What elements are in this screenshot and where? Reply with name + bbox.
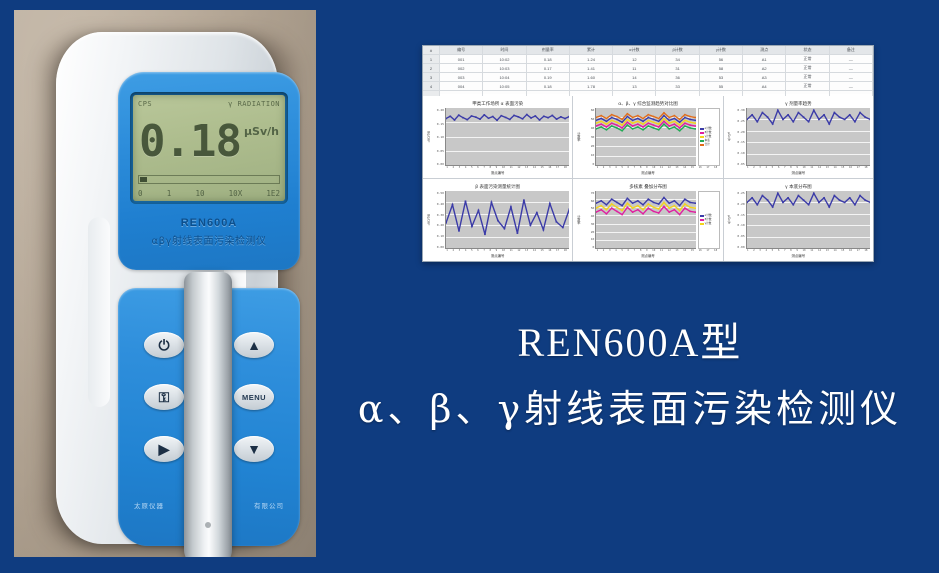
- chart-x-ticks: 123456789101112131415161718: [594, 166, 719, 169]
- chart-x-tick: 14: [533, 249, 536, 252]
- chart-data-point: [617, 116, 618, 118]
- chart-x-tick: 2: [603, 166, 605, 169]
- chart-x-tick: 13: [525, 249, 528, 252]
- device-upper-panel: CPS γ RADIATION 0.18 μSv/h 011010X1E2 RE…: [118, 72, 300, 270]
- table-cell: 10:05: [483, 82, 526, 90]
- chart-data-point: [685, 122, 686, 124]
- chart-data-point: [627, 121, 628, 123]
- chart-data-point: [849, 114, 851, 116]
- chart-data-point: [611, 125, 612, 127]
- chart-x-tick: 12: [668, 166, 671, 169]
- chart-x-tick: 7: [483, 249, 485, 252]
- chart-x-tick: 9: [646, 249, 648, 252]
- table-row: 100110:020.181.24123456A1正常—: [423, 55, 873, 64]
- lcd-scale-tick: 1: [167, 189, 172, 198]
- chart-data-point: [747, 119, 748, 121]
- chart-data-point: [797, 112, 799, 114]
- chart-x-tick: 8: [790, 166, 792, 169]
- chart-data-point: [530, 117, 532, 119]
- chart-data-point: [664, 115, 665, 117]
- legend-swatch: [700, 215, 704, 217]
- chart-data-point: [869, 119, 870, 121]
- chart-x-tick: 15: [841, 249, 844, 252]
- menu-button[interactable]: MENU: [234, 384, 274, 410]
- chart-data-point: [674, 200, 675, 202]
- product-photo: CPS γ RADIATION 0.18 μSv/h 011010X1E2 RE…: [14, 10, 316, 557]
- power-button[interactable]: ⏻: [144, 332, 184, 358]
- chart-data-point: [653, 119, 654, 121]
- chart-data-point: [761, 195, 763, 197]
- chart-gridline: [446, 248, 569, 249]
- table-row: 400410:050.181.78133355A4正常—: [423, 82, 873, 91]
- chart-x-axis-label: 测点编号: [426, 170, 569, 175]
- chart-data-point: [777, 109, 779, 111]
- legend-swatch: [700, 144, 704, 146]
- chart-data-point: [606, 213, 607, 215]
- chart-data-point: [637, 205, 638, 207]
- chart-data-point: [751, 197, 753, 199]
- chart-data-point: [669, 202, 670, 204]
- chart-data-point: [843, 119, 845, 121]
- chart-data-point: [674, 209, 675, 211]
- chart-data-point: [658, 121, 659, 123]
- chart-data-point: [695, 128, 696, 130]
- chart-data-point: [813, 192, 815, 194]
- chart-data-point: [462, 117, 464, 119]
- chart-data-point: [690, 202, 691, 204]
- chart-x-tick: 10: [652, 166, 655, 169]
- chart-x-tick: 16: [849, 249, 852, 252]
- chart-y-tick: 0.15: [737, 213, 744, 217]
- chart-y-ticks: 0.250.200.150.100.050.00: [732, 191, 746, 249]
- chart-data-point: [766, 199, 768, 201]
- chart-data-point: [510, 206, 512, 208]
- chart-x-tick: 3: [459, 166, 461, 169]
- table-cell: A1: [743, 55, 786, 63]
- table-header-cell: 测点: [743, 46, 786, 54]
- chart-data-point: [653, 121, 654, 123]
- chart-data-point: [606, 209, 607, 211]
- chart-x-tick: 10: [803, 249, 806, 252]
- chart-data-point: [622, 130, 623, 132]
- chart-x-tick: 16: [699, 166, 702, 169]
- lcd-bezel: CPS γ RADIATION 0.18 μSv/h 011010X1E2: [130, 92, 288, 204]
- chart-x-axis-label: 测点编号: [727, 170, 870, 175]
- table-cell: 10:02: [483, 55, 526, 63]
- chart-legend-item: γ计数: [700, 222, 718, 226]
- chart-y-tick: 0.05: [737, 162, 744, 166]
- chart-x-tick: 3: [609, 249, 611, 252]
- chart-x-tick: 12: [517, 249, 520, 252]
- chart-y-tick: 40: [591, 214, 595, 218]
- chart-data-point: [601, 121, 602, 123]
- chart-data-point: [664, 118, 665, 120]
- chart-data-point: [859, 112, 861, 114]
- page-subtitle: α、β、γ射线表面污染检测仪: [330, 382, 930, 437]
- chart-data-point: [632, 117, 633, 119]
- table-header-cell: 时间: [483, 46, 526, 54]
- chart-data-point: [611, 117, 612, 119]
- chart-x-ticks: 123456789101112131415161718: [745, 249, 870, 252]
- table-cell: 36: [656, 73, 699, 81]
- chart-legend-item: 合计: [700, 143, 718, 147]
- chart-data-point: [632, 120, 633, 122]
- page-title: REN600A型: [330, 318, 930, 368]
- chart-data-point: [601, 126, 602, 128]
- chart-data-point: [465, 200, 467, 202]
- table-cell: 1.24: [570, 55, 613, 63]
- chart-data-point: [606, 204, 607, 206]
- chart-data-point: [627, 202, 628, 204]
- chart-data-point: [771, 123, 773, 125]
- lcd-scale-tick: 10X: [229, 189, 243, 198]
- chart-data-point: [658, 123, 659, 125]
- chart-data-point: [564, 118, 566, 120]
- chart-data-point: [756, 121, 758, 123]
- chart-x-tick: 7: [784, 249, 786, 252]
- chart-x-tick: 18: [864, 166, 867, 169]
- chart-data-point: [818, 119, 820, 121]
- chart-data-point: [643, 204, 644, 206]
- key-button[interactable]: ⚿: [144, 384, 184, 410]
- play-button[interactable]: ▶: [144, 436, 184, 462]
- chart-y-tick: 0.50: [437, 191, 444, 195]
- chart-x-tick: 6: [627, 166, 629, 169]
- chart-data-point: [807, 121, 809, 123]
- chart-data-point: [653, 202, 654, 204]
- chart-data-point: [674, 121, 675, 123]
- chart-y-ticks: 0.200.150.100.050.00: [431, 108, 445, 166]
- chart-data-point: [643, 126, 644, 128]
- table-header-row: #编号时间剂量率累计α计数β计数γ计数测点状态备注: [423, 46, 873, 55]
- chart-data-point: [500, 115, 502, 117]
- chart-title: β 表面污染测量统计图: [426, 184, 569, 190]
- chart-data-point: [685, 207, 686, 209]
- chart-x-tick: 18: [714, 166, 717, 169]
- chart-data-point: [622, 121, 623, 123]
- chart-x-tick: 15: [691, 249, 694, 252]
- chart-x-tick: 18: [864, 249, 867, 252]
- chart-data-point: [601, 200, 602, 202]
- chart-x-tick: 4: [465, 249, 467, 252]
- chart-data-point: [679, 210, 680, 212]
- chart-x-tick: 3: [459, 249, 461, 252]
- chart-data-point: [622, 127, 623, 129]
- chart-x-tick: 13: [675, 166, 678, 169]
- chart-data-point: [690, 127, 691, 129]
- chart-data-point: [488, 117, 490, 119]
- chart-data-point: [505, 117, 507, 119]
- chart-x-tick: 3: [759, 166, 761, 169]
- chart-x-tick: 14: [833, 166, 836, 169]
- chart-data-point: [551, 115, 553, 117]
- chart-y-tick: 0.10: [737, 151, 744, 155]
- chart-data-point: [617, 121, 618, 123]
- chart-y-ticks: 0.300.250.200.150.100.05: [732, 108, 746, 166]
- chart-data-point: [690, 124, 691, 126]
- chart-body: Bq/cm²0.500.400.300.200.100.00: [426, 191, 569, 249]
- chart-x-tick: 5: [471, 249, 473, 252]
- chart-data-point: [833, 195, 835, 197]
- chart-x-tick: 12: [818, 166, 821, 169]
- lcd-value: 0.18: [139, 120, 241, 164]
- chart-data-point: [653, 116, 654, 118]
- chart-x-tick: 13: [826, 249, 829, 252]
- chart-panel: 多核素 叠加分布图计数率706050403020100α计数β计数γ计数1234…: [573, 179, 722, 261]
- chart-data-point: [622, 124, 623, 126]
- chart-data-point: [596, 202, 597, 204]
- chart-data-point: [643, 213, 644, 215]
- chart-y-tick: 0.30: [437, 213, 444, 217]
- chart-y-tick: 0.20: [737, 130, 744, 134]
- chart-x-tick: 8: [640, 166, 642, 169]
- chart-data-point: [664, 123, 665, 125]
- software-screenshot: #编号时间剂量率累计α计数β计数γ计数测点状态备注100110:020.181.…: [422, 45, 874, 262]
- up-button[interactable]: ▲: [234, 332, 274, 358]
- chart-x-tick: 9: [496, 166, 498, 169]
- chart-data-point: [669, 120, 670, 122]
- table-header-cell: 累计: [570, 46, 613, 54]
- table-cell: 002: [440, 64, 483, 72]
- chart-data-point: [751, 114, 753, 116]
- table-cell: 004: [440, 82, 483, 90]
- chart-x-tick: 4: [765, 166, 767, 169]
- table-cell: —: [830, 82, 873, 90]
- chart-data-point: [643, 209, 644, 211]
- table-cell: 0.18: [527, 82, 570, 90]
- chart-data-point: [695, 211, 696, 213]
- chart-data-point: [787, 114, 789, 116]
- chart-x-tick: 7: [483, 166, 485, 169]
- chart-gridline: [596, 248, 695, 249]
- chart-y-tick: 10: [591, 153, 595, 157]
- chart-data-point: [637, 118, 638, 120]
- legend-label: γ计数: [705, 222, 712, 226]
- chart-x-tick: 1: [597, 249, 599, 252]
- chart-y-tick: 0.00: [437, 162, 444, 166]
- table-cell: 正常: [786, 55, 829, 63]
- chart-data-point: [658, 129, 659, 131]
- chart-x-tick: 15: [541, 166, 544, 169]
- chart-data-point: [522, 118, 524, 120]
- chart-data-point: [864, 199, 866, 201]
- legend-swatch: [700, 136, 704, 138]
- chart-data-point: [648, 120, 649, 122]
- chart-data-point: [679, 205, 680, 207]
- chart-body: 计数率706050403020100α计数β计数γ计数: [576, 191, 719, 249]
- chart-data-point: [653, 206, 654, 208]
- chart-y-tick: 20: [591, 230, 595, 234]
- legend-swatch: [700, 223, 704, 225]
- chart-x-tick: 2: [452, 249, 454, 252]
- chart-body: Bq/cm²0.200.150.100.050.00: [426, 108, 569, 166]
- lcd-scale-tick: 1E2: [266, 189, 280, 198]
- chart-legend: α计数β计数γ计数: [698, 191, 720, 249]
- legend-swatch: [700, 140, 704, 142]
- table-header-cell: 状态: [786, 46, 829, 54]
- chart-data-point: [777, 192, 779, 194]
- chart-data-point: [802, 199, 804, 201]
- chart-data-point: [606, 129, 607, 131]
- chart-data-point: [637, 209, 638, 211]
- chart-data-point: [617, 127, 618, 129]
- chart-y-tick: 0.10: [437, 234, 444, 238]
- chart-x-axis-label: 测点编号: [576, 253, 719, 258]
- chart-x-tick: 10: [502, 249, 505, 252]
- chart-data-point: [632, 202, 633, 204]
- down-button[interactable]: ▼: [234, 436, 274, 462]
- chart-x-tick: 2: [753, 166, 755, 169]
- chart-data-point: [690, 121, 691, 123]
- chart-data-point: [560, 116, 562, 118]
- chart-x-tick: 18: [714, 249, 717, 252]
- chart-data-point: [466, 119, 468, 121]
- table-cell: 0.18: [527, 55, 570, 63]
- chart-x-tick: 17: [706, 166, 709, 169]
- chart-data-point: [449, 115, 451, 117]
- chart-x-tick: 2: [753, 249, 755, 252]
- chart-data-point: [669, 207, 670, 209]
- chart-x-tick: 5: [621, 249, 623, 252]
- chart-plot-area: [746, 191, 870, 249]
- chart-data-point: [854, 204, 856, 206]
- chart-data-point: [792, 121, 794, 123]
- chart-plot-area: [445, 191, 569, 249]
- table-header-cell: α计数: [613, 46, 656, 54]
- chart-data-point: [648, 117, 649, 119]
- table-cell: 001: [440, 55, 483, 63]
- chart-data-point: [695, 207, 696, 209]
- chart-data-point: [637, 200, 638, 202]
- chart-y-ticks: 0.500.400.300.200.100.00: [431, 191, 445, 249]
- chart-data-point: [632, 125, 633, 127]
- table-cell: —: [830, 55, 873, 63]
- chart-data-point: [596, 120, 597, 122]
- chart-data-point: [679, 121, 680, 123]
- chart-data-point: [674, 126, 675, 128]
- chart-x-ticks: 123456789101112131415161718: [444, 249, 569, 252]
- chart-gridline: [596, 165, 695, 166]
- legend-swatch: [700, 128, 704, 130]
- table-cell: 正常: [786, 82, 829, 90]
- table-row: 300310:040.191.60143653A3正常—: [423, 73, 873, 82]
- chart-data-point: [843, 202, 845, 204]
- chart-data-point: [491, 202, 493, 204]
- chart-data-point: [596, 117, 597, 119]
- chart-body: μSv/h0.300.250.200.150.100.05: [727, 108, 870, 166]
- chart-y-tick: 0.25: [737, 191, 744, 195]
- data-table: #编号时间剂量率累计α计数β计数γ计数测点状态备注100110:020.181.…: [423, 46, 873, 94]
- chart-x-tick: 11: [510, 166, 513, 169]
- chart-x-tick: 11: [810, 249, 813, 252]
- chart-data-point: [568, 116, 569, 118]
- chart-x-tick: 7: [634, 249, 636, 252]
- chart-gridline: [446, 165, 569, 166]
- lcd-unit: μSv/h: [244, 125, 279, 138]
- chart-x-tick: 1: [446, 166, 448, 169]
- device-model-label: REN600A: [118, 217, 300, 229]
- chart-data-point: [685, 114, 686, 116]
- chart-data-point: [637, 126, 638, 128]
- chart-x-tick: 1: [747, 249, 749, 252]
- chart-x-tick: 13: [826, 166, 829, 169]
- device-model-sublabel: αβγ射线表面污染检测仪: [118, 232, 300, 247]
- chart-x-tick: 2: [603, 249, 605, 252]
- chart-data-point: [690, 206, 691, 208]
- chart-y-tick: 0.40: [437, 202, 444, 206]
- table-header-cell: β计数: [656, 46, 699, 54]
- chart-data-point: [807, 204, 809, 206]
- play-icon: ▶: [159, 442, 170, 456]
- device-footer-right: 有限公司: [254, 500, 284, 512]
- chart-y-tick: 30: [591, 222, 595, 226]
- chart-data-point: [637, 121, 638, 123]
- chart-x-tick: 7: [634, 166, 636, 169]
- chart-gridline: [747, 248, 870, 249]
- chart-data-point: [761, 112, 763, 114]
- chart-data-point: [648, 122, 649, 124]
- chart-data-point: [648, 125, 649, 127]
- chart-data-point: [653, 127, 654, 129]
- chart-x-tick: 6: [477, 249, 479, 252]
- chart-data-point: [669, 211, 670, 213]
- chart-data-point: [782, 119, 784, 121]
- chart-data-point: [606, 118, 607, 120]
- chart-data-point: [690, 211, 691, 213]
- chart-data-point: [617, 124, 618, 126]
- table-cell: 2: [423, 64, 440, 72]
- chart-data-point: [601, 115, 602, 117]
- chart-data-point: [556, 118, 558, 120]
- chart-x-tick: 11: [510, 249, 513, 252]
- table-cell: 34: [656, 55, 699, 63]
- table-cell: 53: [700, 73, 743, 81]
- chart-data-point: [685, 203, 686, 205]
- chart-data-point: [859, 195, 861, 197]
- chart-data-point: [792, 204, 794, 206]
- chevron-down-icon: ▼: [247, 442, 261, 456]
- chart-data-point: [658, 126, 659, 128]
- chart-data-point: [543, 115, 545, 117]
- chart-x-tick: 6: [778, 166, 780, 169]
- table-cell: 10:03: [483, 64, 526, 72]
- chart-x-tick: 7: [784, 166, 786, 169]
- chart-data-point: [782, 202, 784, 204]
- chart-x-tick: 10: [652, 249, 655, 252]
- chart-y-tick: 60: [591, 199, 595, 203]
- device-shell: CPS γ RADIATION 0.18 μSv/h 011010X1E2 RE…: [56, 32, 278, 544]
- chart-panel: γ 剂量率趋势μSv/h0.300.250.200.150.100.051234…: [724, 96, 873, 178]
- chart-data-point: [627, 116, 628, 118]
- chart-x-tick: 5: [621, 166, 623, 169]
- table-cell: 55: [700, 82, 743, 90]
- power-icon: ⏻: [158, 338, 169, 352]
- table-cell: 12: [613, 55, 656, 63]
- table-cell: A3: [743, 73, 786, 81]
- chart-data-point: [637, 115, 638, 117]
- chart-data-point: [471, 115, 473, 117]
- chart-data-point: [606, 121, 607, 123]
- chart-data-point: [864, 116, 866, 118]
- chart-data-point: [690, 119, 691, 121]
- chart-data-point: [617, 206, 618, 208]
- chart-x-tick: 12: [517, 166, 520, 169]
- chart-x-tick: 11: [660, 249, 663, 252]
- chart-title: γ 剂量率趋势: [727, 101, 870, 107]
- chart-data-point: [695, 117, 696, 119]
- chart-data-point: [458, 230, 460, 232]
- chart-plot-area: [445, 108, 569, 166]
